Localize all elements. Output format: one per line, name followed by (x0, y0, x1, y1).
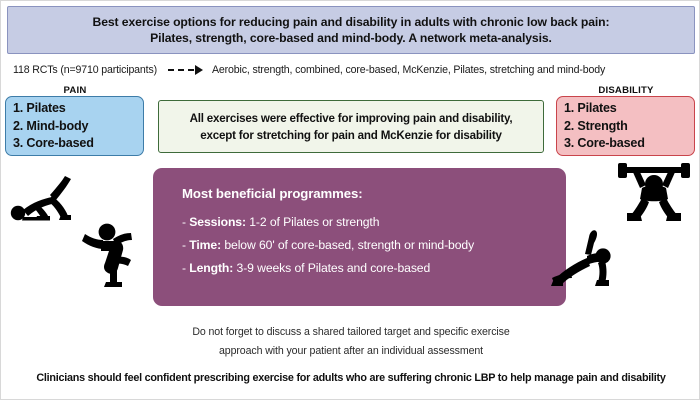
standing-balance-figure-icon (77, 223, 141, 289)
programme-item-sessions: - Sessions: 1-2 of Pilates or strength (182, 211, 566, 234)
title-line-2: Pilates, strength, core-based and mind-b… (150, 30, 552, 46)
weightlifter-figure-icon (615, 163, 693, 225)
disability-ranking-box: 1. Pilates 2. Strength 3. Core-based (556, 96, 695, 156)
disability-rank-2: 2. Strength (564, 118, 687, 136)
programme-item-length-value: 3-9 weeks of Pilates and core-based (233, 261, 430, 275)
effectiveness-line-1: All exercises were effective for improvi… (190, 110, 513, 127)
clinical-note: Do not forget to discuss a shared tailor… (101, 323, 601, 361)
infographic-canvas: Best exercise options for reducing pain … (0, 0, 700, 400)
clinical-note-line-1: Do not forget to discuss a shared tailor… (101, 323, 601, 342)
effectiveness-line-2: except for stretching for pain and McKen… (200, 127, 501, 144)
programme-item-time: - Time: below 60' of core-based, strengt… (182, 234, 566, 257)
bridge-exercise-figure-icon (9, 175, 87, 223)
arrow-dash-segment (168, 69, 194, 71)
title-line-1: Best exercise options for reducing pain … (93, 14, 610, 30)
programme-item-time-label: Time: (189, 238, 221, 252)
arrow-head-shape (195, 65, 203, 75)
title-banner: Best exercise options for reducing pain … (7, 6, 695, 54)
disability-rank-1: 1. Pilates (564, 100, 687, 118)
side-plank-figure-icon (549, 229, 635, 289)
pain-rank-1: 1. Pilates (13, 100, 136, 118)
pain-column-header: PAIN (3, 85, 147, 96)
conclusion-statement: Clinicians should feel confident prescri… (1, 372, 700, 384)
effectiveness-box: All exercises were effective for improvi… (158, 100, 544, 153)
pain-rank-2: 2. Mind-body (13, 118, 136, 136)
programme-item-sessions-value: 1-2 of Pilates or strength (246, 215, 379, 229)
disability-column-header: DISABILITY (553, 85, 699, 96)
rct-count-label: 118 RCTs (n=9710 participants) (13, 64, 157, 76)
disability-rank-3: 3. Core-based (564, 135, 687, 153)
pain-rank-3: 3. Core-based (13, 135, 136, 153)
programme-item-sessions-label: Sessions: (189, 215, 246, 229)
programme-item-length-label: Length: (189, 261, 233, 275)
pain-ranking-box: 1. Pilates 2. Mind-body 3. Core-based (5, 96, 144, 156)
clinical-note-line-2: approach with your patient after an indi… (101, 342, 601, 361)
programmes-box: Most beneficial programmes: - Sessions: … (153, 168, 566, 306)
programme-item-length: - Length: 3-9 weeks of Pilates and core-… (182, 257, 566, 280)
programmes-heading: Most beneficial programmes: (182, 185, 566, 203)
evidence-row: 118 RCTs (n=9710 participants) Aerobic, … (13, 60, 689, 80)
dashed-arrow-right-icon (168, 64, 203, 76)
interventions-label: Aerobic, strength, combined, core-based,… (212, 64, 605, 76)
programme-item-time-value: below 60' of core-based, strength or min… (221, 238, 474, 252)
